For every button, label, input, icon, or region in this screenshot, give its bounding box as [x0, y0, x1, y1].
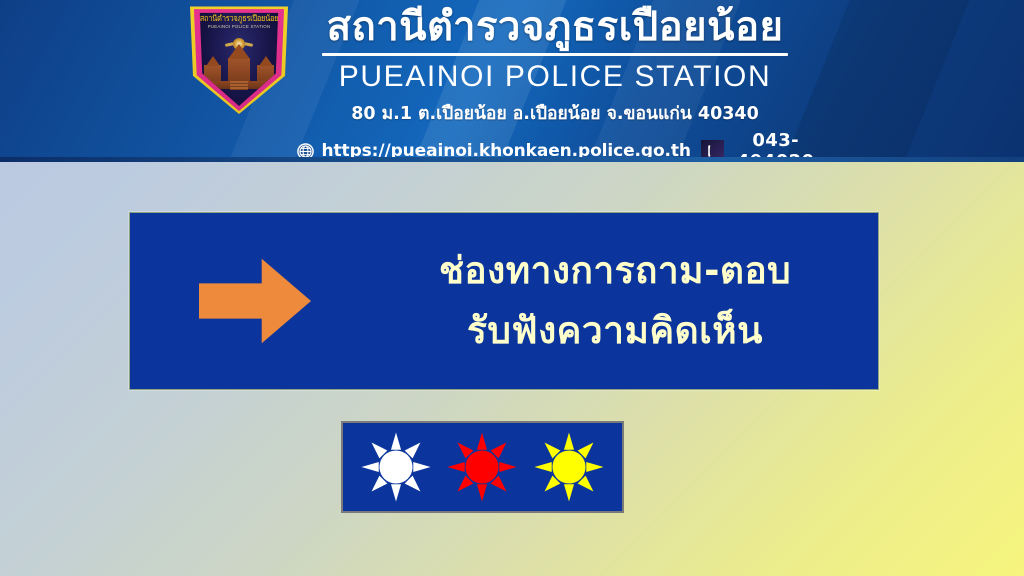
police-shield-badge-icon: สถานีตำรวจภูธรเปือยน้อย PUEAINOI POLICE … — [189, 2, 289, 114]
badge-temple-steps — [230, 81, 248, 90]
contact-row: https://pueainoi.khonkaen.police.go.th 0… — [300, 130, 810, 162]
sun-icon-yellow — [533, 431, 605, 503]
station-name-english: PUEAINOI POLICE STATION — [300, 60, 810, 93]
website-url-link[interactable]: https://pueainoi.khonkaen.police.go.th — [322, 141, 691, 161]
station-name-thai: สถานีตำรวจภูธรเปือยน้อย — [300, 6, 810, 48]
sun-icon-red — [446, 431, 518, 503]
sun-icons-panel — [341, 421, 624, 513]
qa-line-1: ช่องทางการถาม-ตอบ — [380, 241, 850, 301]
header-divider-rule — [322, 53, 788, 56]
phone-number: 043-494020 — [737, 130, 815, 162]
phone-icon — [705, 144, 719, 158]
right-arrow-icon — [199, 257, 311, 345]
header-inner: สถานีตำรวจภูธรเปือยน้อย PUEAINOI POLICE … — [0, 0, 1024, 157]
qa-line-2: รับฟังความคิดเห็น — [380, 301, 850, 361]
badge-temple-tower-center — [228, 58, 250, 82]
phone-icon-badge — [701, 140, 724, 163]
badge-inner-field: สถานีตำรวจภูธรเปือยน้อย PUEAINOI POLICE … — [199, 10, 279, 106]
site-header-banner: สถานีตำรวจภูธรเปือยน้อย PUEAINOI POLICE … — [0, 0, 1024, 162]
qa-text-lines: ช่องทางการถาม-ตอบ รับฟังความคิดเห็น — [380, 241, 878, 361]
station-address: 80 ม.1 ต.เปือยน้อย อ.เปือยน้อย จ.ขอนแก่น… — [300, 99, 810, 127]
qa-feedback-banner[interactable]: ช่องทางการถาม-ตอบ รับฟังความคิดเห็น — [129, 212, 879, 390]
arrow-wrapper — [130, 213, 380, 389]
sun-icon-white — [360, 431, 432, 503]
badge-arc-text-english: PUEAINOI POLICE STATION — [199, 24, 279, 29]
header-text-block: สถานีตำรวจภูธรเปือยน้อย PUEAINOI POLICE … — [300, 6, 810, 162]
globe-icon — [296, 142, 315, 161]
